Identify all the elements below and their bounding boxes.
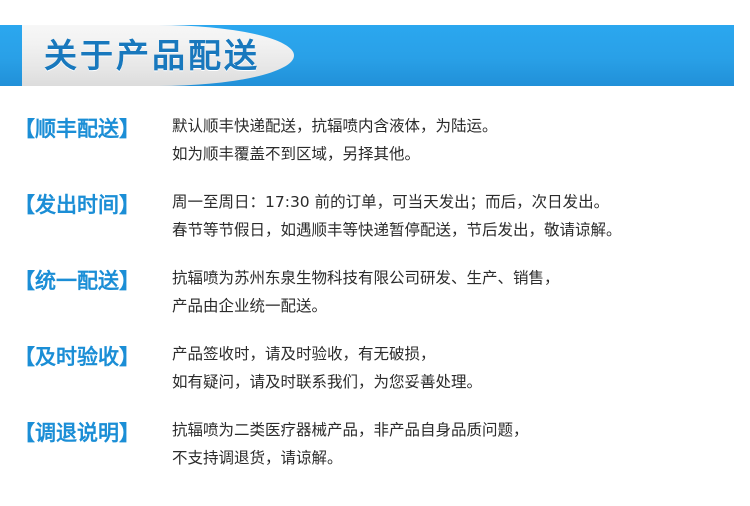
header-banner: 关于产品配送 bbox=[0, 25, 734, 86]
info-row: 【统一配送】 抗辐喷为苏州东泉生物科技有限公司研发、生产、销售， 产品由企业统一… bbox=[0, 264, 750, 340]
info-row: 【及时验收】 产品签收时，请及时验收，有无破损， 如有疑问，请及时联系我们，为您… bbox=[0, 340, 750, 416]
shipping-info-page: 关于产品配送 【顺丰配送】 默认顺丰快递配送，抗辐喷内含液体，为陆运。 如为顺丰… bbox=[0, 0, 750, 506]
info-row: 【调退说明】 抗辐喷为二类医疗器械产品，非产品自身品质问题， 不支持调退货，请谅… bbox=[0, 416, 750, 492]
info-row-line: 如为顺丰覆盖不到区域，另择其他。 bbox=[172, 140, 747, 168]
info-row-line: 如有疑问，请及时联系我们，为您妥善处理。 bbox=[172, 368, 747, 396]
info-row-label: 【发出时间】 bbox=[14, 190, 166, 220]
info-row-line: 默认顺丰快递配送，抗辐喷内含液体，为陆运。 bbox=[172, 112, 747, 140]
info-row-label: 【顺丰配送】 bbox=[14, 114, 166, 144]
info-row-body: 产品签收时，请及时验收，有无破损， 如有疑问，请及时联系我们，为您妥善处理。 bbox=[172, 340, 747, 396]
info-row-body: 周一至周日：17:30 前的订单，可当天发出；而后，次日发出。 春节等节假日，如… bbox=[172, 188, 747, 244]
info-row-body: 抗辐喷为二类医疗器械产品，非产品自身品质问题， 不支持调退货，请谅解。 bbox=[172, 416, 747, 472]
info-row-body: 抗辐喷为苏州东泉生物科技有限公司研发、生产、销售， 产品由企业统一配送。 bbox=[172, 264, 747, 320]
info-row-label: 【统一配送】 bbox=[14, 266, 166, 296]
info-row-label: 【及时验收】 bbox=[14, 342, 166, 372]
info-row-body: 默认顺丰快递配送，抗辐喷内含液体，为陆运。 如为顺丰覆盖不到区域，另择其他。 bbox=[172, 112, 747, 168]
info-row-line: 不支持调退货，请谅解。 bbox=[172, 444, 747, 472]
info-row-list: 【顺丰配送】 默认顺丰快递配送，抗辐喷内含液体，为陆运。 如为顺丰覆盖不到区域，… bbox=[0, 112, 750, 492]
info-row-line: 周一至周日：17:30 前的订单，可当天发出；而后，次日发出。 bbox=[172, 188, 747, 216]
info-row-label: 【调退说明】 bbox=[14, 418, 166, 448]
info-row-line: 产品签收时，请及时验收，有无破损， bbox=[172, 340, 747, 368]
info-row-line: 抗辐喷为二类医疗器械产品，非产品自身品质问题， bbox=[172, 416, 747, 444]
info-row: 【顺丰配送】 默认顺丰快递配送，抗辐喷内含液体，为陆运。 如为顺丰覆盖不到区域，… bbox=[0, 112, 750, 188]
info-row-line: 产品由企业统一配送。 bbox=[172, 292, 747, 320]
info-row-line: 抗辐喷为苏州东泉生物科技有限公司研发、生产、销售， bbox=[172, 264, 747, 292]
info-row: 【发出时间】 周一至周日：17:30 前的订单，可当天发出；而后，次日发出。 春… bbox=[0, 188, 750, 264]
page-title: 关于产品配送 bbox=[22, 25, 280, 86]
info-row-line: 春节等节假日，如遇顺丰等快递暂停配送，节后发出，敬请谅解。 bbox=[172, 216, 747, 244]
